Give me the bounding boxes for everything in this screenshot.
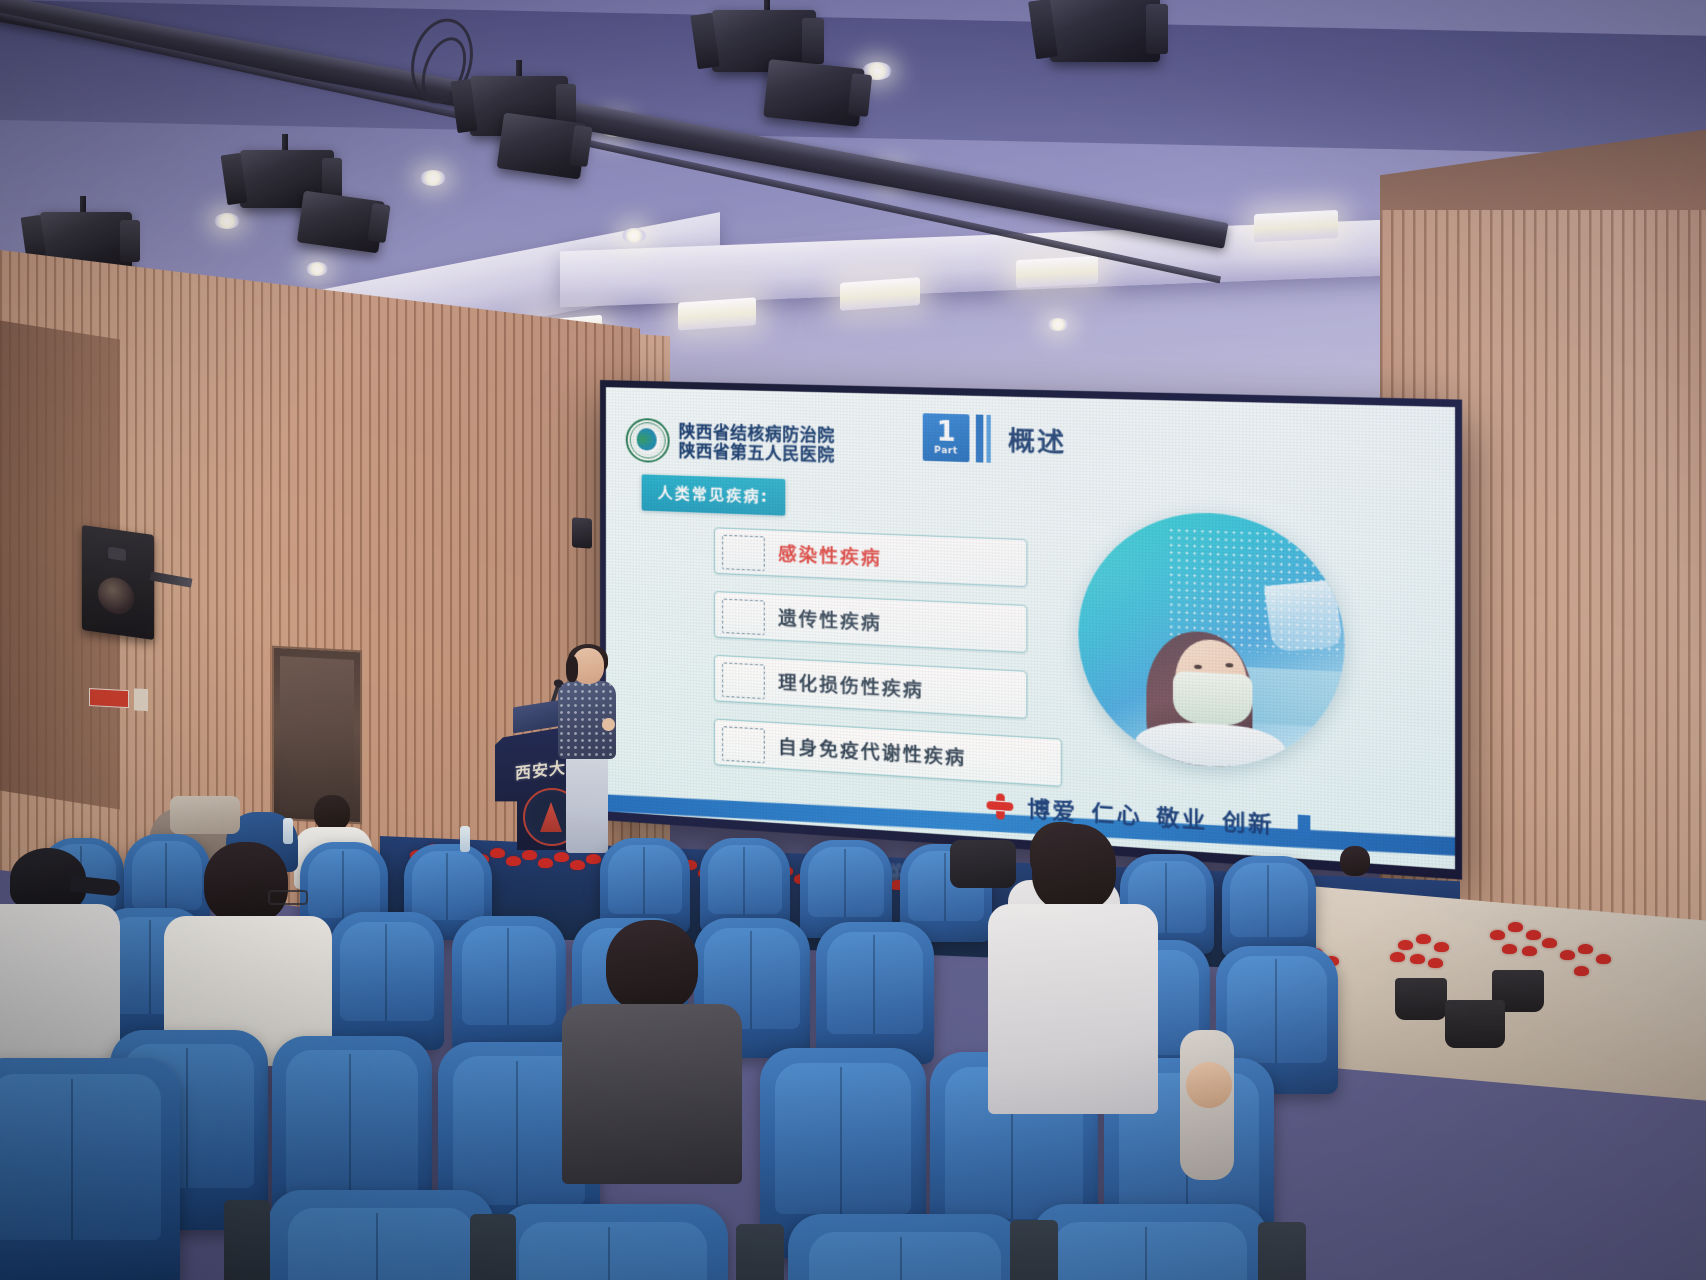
recessed-downlight-icon xyxy=(420,170,446,186)
chair-armrest xyxy=(1258,1222,1306,1280)
exit-sign-icon xyxy=(89,688,129,708)
auditorium-chair-icon[interactable] xyxy=(452,916,566,1054)
recessed-downlight-icon xyxy=(214,213,240,229)
disease-item: 理化损伤性疾病 xyxy=(714,655,1027,719)
auditorium-chair-icon[interactable] xyxy=(788,1214,1022,1280)
checkbox-placeholder-icon xyxy=(722,662,765,699)
part-badge: 1 Part 概述 xyxy=(923,413,1067,465)
water-bottle-icon xyxy=(460,826,470,852)
loudspeaker-icon xyxy=(82,525,154,640)
auditorium-chair-icon[interactable] xyxy=(816,922,934,1064)
photo-scene: 陕西省结核病防治院 陕西省第五人民医院 1 Part 概述 人类常见疾病 xyxy=(0,0,1706,1280)
disease-list: 感染性疾病 遗传性疾病 理化损伤性疾病 自身免疫代谢性疾病 xyxy=(714,527,1027,802)
chair-armrest xyxy=(224,1200,270,1280)
part-number: 1 xyxy=(936,419,955,446)
led-screen[interactable]: 陕西省结核病防治院 陕西省第五人民医院 1 Part 概述 人类常见疾病 xyxy=(600,380,1400,820)
person-hand-icon xyxy=(1186,1062,1232,1108)
camera-icon xyxy=(572,517,592,548)
institution-line2: 陕西省第五人民医院 xyxy=(679,441,835,465)
ceiling-panel-light-icon xyxy=(1016,256,1098,288)
glasses-icon xyxy=(268,890,308,905)
section-title: 概述 xyxy=(1008,421,1066,460)
water-bottle-icon xyxy=(283,818,293,844)
bag-icon xyxy=(170,796,240,834)
ceiling-panel-light-icon xyxy=(1254,210,1338,242)
auditorium-chair-icon[interactable] xyxy=(268,1190,494,1280)
auditorium-chair-icon[interactable] xyxy=(1222,856,1316,958)
auditorium-chair-icon[interactable] xyxy=(498,1204,728,1280)
bag-icon xyxy=(950,840,1016,888)
ceiling-panel-light-icon xyxy=(678,297,756,330)
audience-area xyxy=(0,790,1706,1280)
disease-item: 遗传性疾病 xyxy=(714,591,1027,653)
checkbox-placeholder-icon xyxy=(722,599,765,636)
disease-item: 感染性疾病 xyxy=(714,527,1027,587)
recessed-downlight-icon xyxy=(622,228,646,243)
section-tag: 人类常见疾病: xyxy=(642,474,786,515)
chair-armrest xyxy=(470,1214,516,1280)
recessed-downlight-icon xyxy=(306,262,328,276)
part-label: Part xyxy=(934,447,958,457)
auditorium-chair-icon[interactable] xyxy=(330,912,444,1050)
hospital-lung-logo-icon xyxy=(626,418,670,463)
recessed-downlight-icon xyxy=(1047,318,1069,331)
wall-notice-icon xyxy=(134,688,148,711)
scientist-in-mask-holding-flask-photo xyxy=(1078,509,1344,775)
chair-armrest xyxy=(1010,1220,1058,1280)
auditorium-chair-icon[interactable] xyxy=(1032,1204,1268,1280)
ceiling-panel-light-icon xyxy=(840,277,920,311)
slide-institution-logo: 陕西省结核病防治院 陕西省第五人民医院 xyxy=(626,418,835,469)
checkbox-placeholder-icon xyxy=(722,726,765,763)
chair-armrest xyxy=(736,1224,784,1280)
checkbox-placeholder-icon xyxy=(722,535,765,571)
auditorium-chair-icon[interactable] xyxy=(0,1058,180,1280)
